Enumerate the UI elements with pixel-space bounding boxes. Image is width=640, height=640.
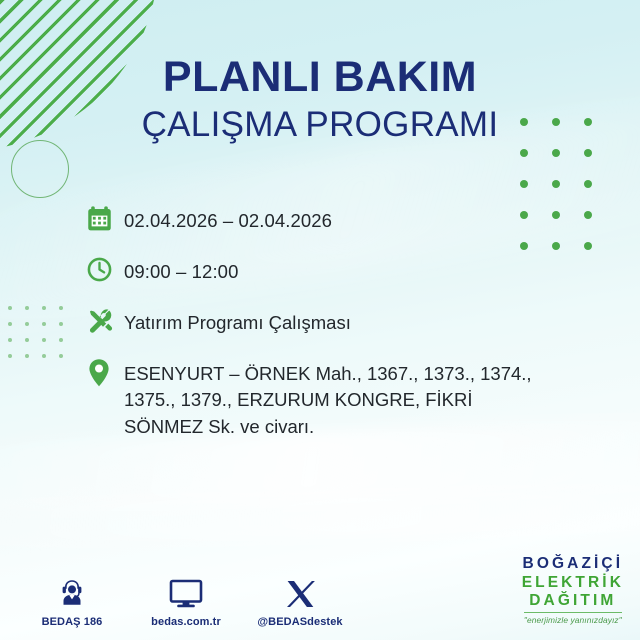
logo-line-bogazici: BOĞAZİÇİ bbox=[522, 556, 624, 572]
logo-line-elektrik: ELEKTRİK bbox=[522, 575, 624, 591]
logo-tagline: "enerjimizle yanınızdayız" bbox=[522, 616, 624, 624]
poster-header: PLANLI BAKIM ÇALIŞMA PROGRAMI bbox=[0, 56, 640, 142]
monitor-icon bbox=[140, 575, 232, 609]
footer-label-call-center: BEDAŞ 186 bbox=[26, 616, 118, 628]
maintenance-work-type: Yatırım Programı Çalışması bbox=[124, 306, 351, 336]
poster-footer: BEDAŞ 186 bedas.com.tr bbox=[0, 548, 640, 640]
footer-item-website[interactable]: bedas.com.tr bbox=[140, 575, 232, 628]
footer-item-call-center[interactable]: BEDAŞ 186 bbox=[26, 575, 118, 628]
calendar-icon bbox=[86, 204, 124, 239]
maintenance-time-range: 09:00 – 12:00 bbox=[124, 255, 238, 285]
page-subtitle: ÇALIŞMA PROGRAMI bbox=[0, 107, 640, 142]
circle-outline-decoration bbox=[11, 140, 69, 198]
logo-divider bbox=[524, 612, 622, 613]
footer-contact-list: BEDAŞ 186 bedas.com.tr bbox=[26, 575, 346, 628]
maintenance-location: ESENYURT – ÖRNEK Mah., 1367., 1373., 137… bbox=[124, 357, 544, 440]
bedas-logo: BOĞAZİÇİ ELEKTRİK DAĞITIM "enerjimizle y… bbox=[522, 556, 624, 624]
detail-row-time: 09:00 – 12:00 bbox=[86, 255, 600, 290]
dot-grid-left-decoration bbox=[8, 306, 76, 370]
support-agent-icon bbox=[26, 575, 118, 609]
tools-icon bbox=[86, 306, 124, 341]
footer-label-social: @BEDASdestek bbox=[254, 616, 346, 628]
footer-label-website: bedas.com.tr bbox=[140, 616, 232, 628]
background-sheen-lower bbox=[0, 482, 640, 548]
maintenance-details-list: 02.04.2026 – 02.04.2026 09:00 – 12:00 bbox=[86, 204, 600, 440]
location-pin-icon bbox=[86, 357, 124, 392]
clock-icon bbox=[86, 255, 124, 290]
detail-row-work-type: Yatırım Programı Çalışması bbox=[86, 306, 600, 341]
maintenance-date-range: 02.04.2026 – 02.04.2026 bbox=[124, 204, 332, 234]
logo-line-dagitim: DAĞITIM bbox=[522, 593, 624, 609]
planned-maintenance-poster: PLANLI BAKIM ÇALIŞMA PROGRAMI bbox=[0, 0, 640, 640]
detail-row-location: ESENYURT – ÖRNEK Mah., 1367., 1373., 137… bbox=[86, 357, 600, 440]
footer-item-social[interactable]: @BEDASdestek bbox=[254, 575, 346, 628]
detail-row-date: 02.04.2026 – 02.04.2026 bbox=[86, 204, 600, 239]
x-twitter-icon bbox=[254, 575, 346, 609]
page-title: PLANLI BAKIM bbox=[0, 56, 640, 99]
